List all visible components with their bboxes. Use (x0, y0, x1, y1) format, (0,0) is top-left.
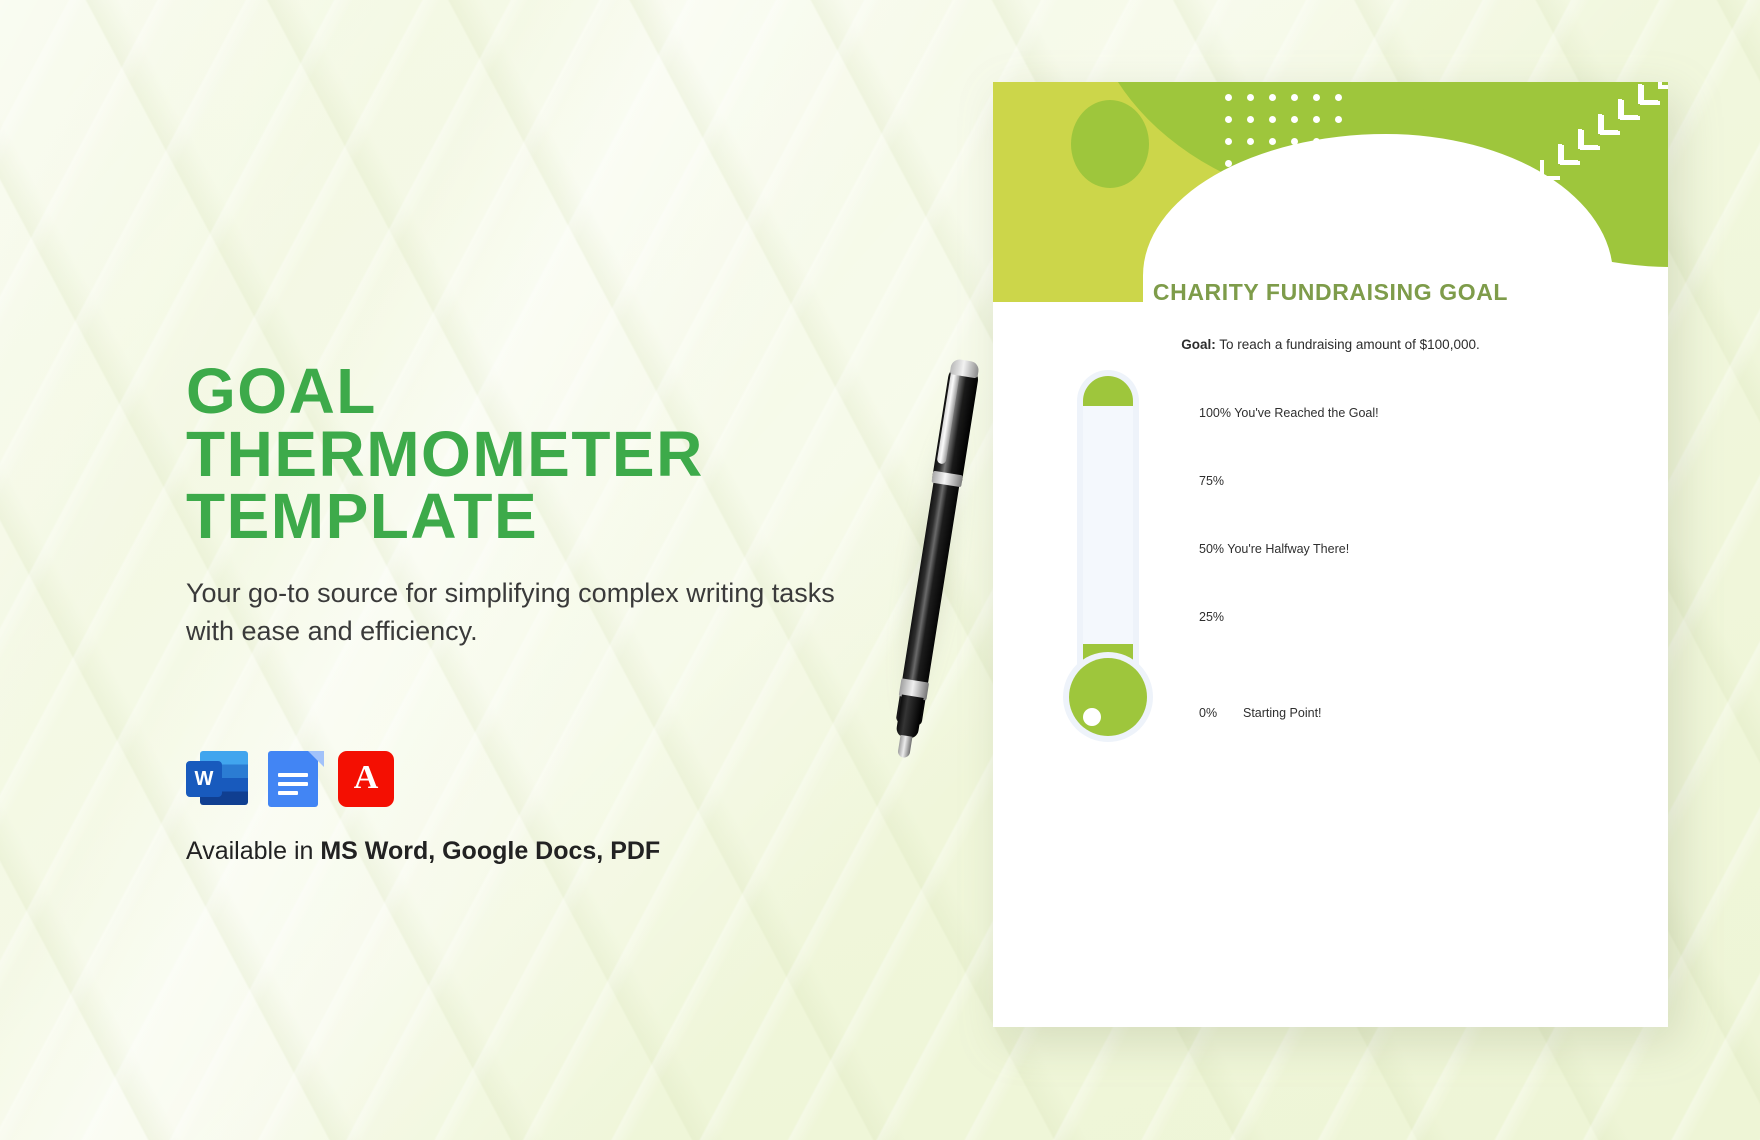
decor-dot (1269, 138, 1276, 145)
decor-dot (1291, 160, 1298, 167)
decor-dot (1291, 94, 1298, 101)
decor-dot (1335, 160, 1342, 167)
decor-chevron (1620, 100, 1640, 120)
tick-pct-100: 100% (1199, 406, 1231, 420)
decor-dot (1247, 160, 1254, 167)
document-preview[interactable]: CHARITY FUNDRAISING GOAL Goal: To reach … (993, 82, 1668, 1027)
docs-text-line (278, 782, 308, 786)
thermometer-tube-inner (1083, 376, 1133, 690)
tick-pct-25: 25% (1199, 610, 1224, 624)
decor-dot (1247, 116, 1254, 123)
docs-fold-corner (308, 751, 324, 767)
document-page: CHARITY FUNDRAISING GOAL Goal: To reach … (993, 82, 1668, 1027)
tick-note-100: You've Reached the Goal! (1231, 406, 1379, 420)
decor-dot (1313, 94, 1320, 101)
decor-chevron (1640, 85, 1660, 105)
decor-dot (1225, 94, 1232, 101)
document-title: CHARITY FUNDRAISING GOAL (993, 279, 1668, 306)
decor-dot (1269, 160, 1276, 167)
ms-word-letter: W (186, 761, 222, 797)
goal-text: To reach a fundraising amount of $100,00… (1216, 337, 1480, 352)
thermometer-bulb-highlight (1083, 708, 1101, 726)
title-line-2: THERMOMETER (186, 423, 846, 486)
adobe-pdf-icon[interactable]: A (338, 751, 394, 807)
promo-panel: GOAL THERMOMETER TEMPLATE Your go-to sou… (186, 360, 846, 866)
promo-subtitle: Your go-to source for simplifying comple… (186, 574, 846, 651)
tick-pct-0: 0% (1199, 706, 1243, 720)
decor-dot (1269, 116, 1276, 123)
format-badges: W A (186, 747, 846, 809)
docs-text-line (278, 773, 308, 777)
google-docs-icon[interactable] (262, 747, 324, 809)
page-title: GOAL THERMOMETER TEMPLATE (186, 360, 846, 548)
decor-dot (1335, 94, 1342, 101)
tick-label-100: 100% You've Reached the Goal! (1199, 406, 1379, 420)
tick-pct-50: 50% (1199, 542, 1224, 556)
decor-chevron (1600, 115, 1620, 135)
decor-chevron (1560, 145, 1580, 165)
dot-grid-pattern (1225, 94, 1349, 174)
tick-pct-75: 75% (1199, 474, 1224, 488)
tick-label-75: 75% (1199, 474, 1224, 488)
title-line-1: GOAL (186, 360, 846, 423)
decor-dot (1335, 116, 1342, 123)
pen-image (880, 351, 989, 761)
chevron-pattern (1534, 82, 1664, 202)
decor-dot (1313, 160, 1320, 167)
decor-dot (1225, 138, 1232, 145)
decor-dot (1313, 116, 1320, 123)
header-decoration (993, 82, 1668, 302)
decor-dot (1335, 138, 1342, 145)
tick-label-0: 0%Starting Point! (1199, 706, 1322, 720)
decor-dot (1291, 116, 1298, 123)
tick-label-25: 25% (1199, 610, 1224, 624)
pen-tip (897, 735, 912, 759)
goal-thermometer: 100% You've Reached the Goal! 75% 50% Yo… (1077, 370, 1557, 790)
thermometer-bulb (1069, 658, 1147, 736)
decor-dot (1313, 138, 1320, 145)
decor-chevron (1658, 82, 1668, 89)
decor-chevron (1540, 160, 1560, 180)
decor-dot (1247, 138, 1254, 145)
tick-label-50: 50% You're Halfway There! (1199, 542, 1349, 556)
decor-circle (1071, 100, 1149, 188)
ms-word-icon[interactable]: W (186, 747, 248, 809)
pdf-letter: A (354, 761, 379, 795)
availability-formats: MS Word, Google Docs, PDF (320, 837, 660, 865)
decor-dot (1225, 160, 1232, 167)
availability-text: Available in MS Word, Google Docs, PDF (186, 837, 846, 866)
decor-chevron (1580, 130, 1600, 150)
tick-note-50: You're Halfway There! (1224, 542, 1349, 556)
decor-dot (1269, 94, 1276, 101)
tick-note-0: Starting Point! (1243, 706, 1322, 720)
docs-text-line (278, 791, 298, 795)
goal-label: Goal: (1181, 337, 1216, 352)
decor-dot (1291, 138, 1298, 145)
title-line-3: TEMPLATE (186, 485, 846, 548)
decor-dot (1225, 116, 1232, 123)
goal-statement: Goal: To reach a fundraising amount of $… (993, 337, 1668, 352)
decor-dot (1247, 94, 1254, 101)
availability-prefix: Available in (186, 837, 320, 865)
